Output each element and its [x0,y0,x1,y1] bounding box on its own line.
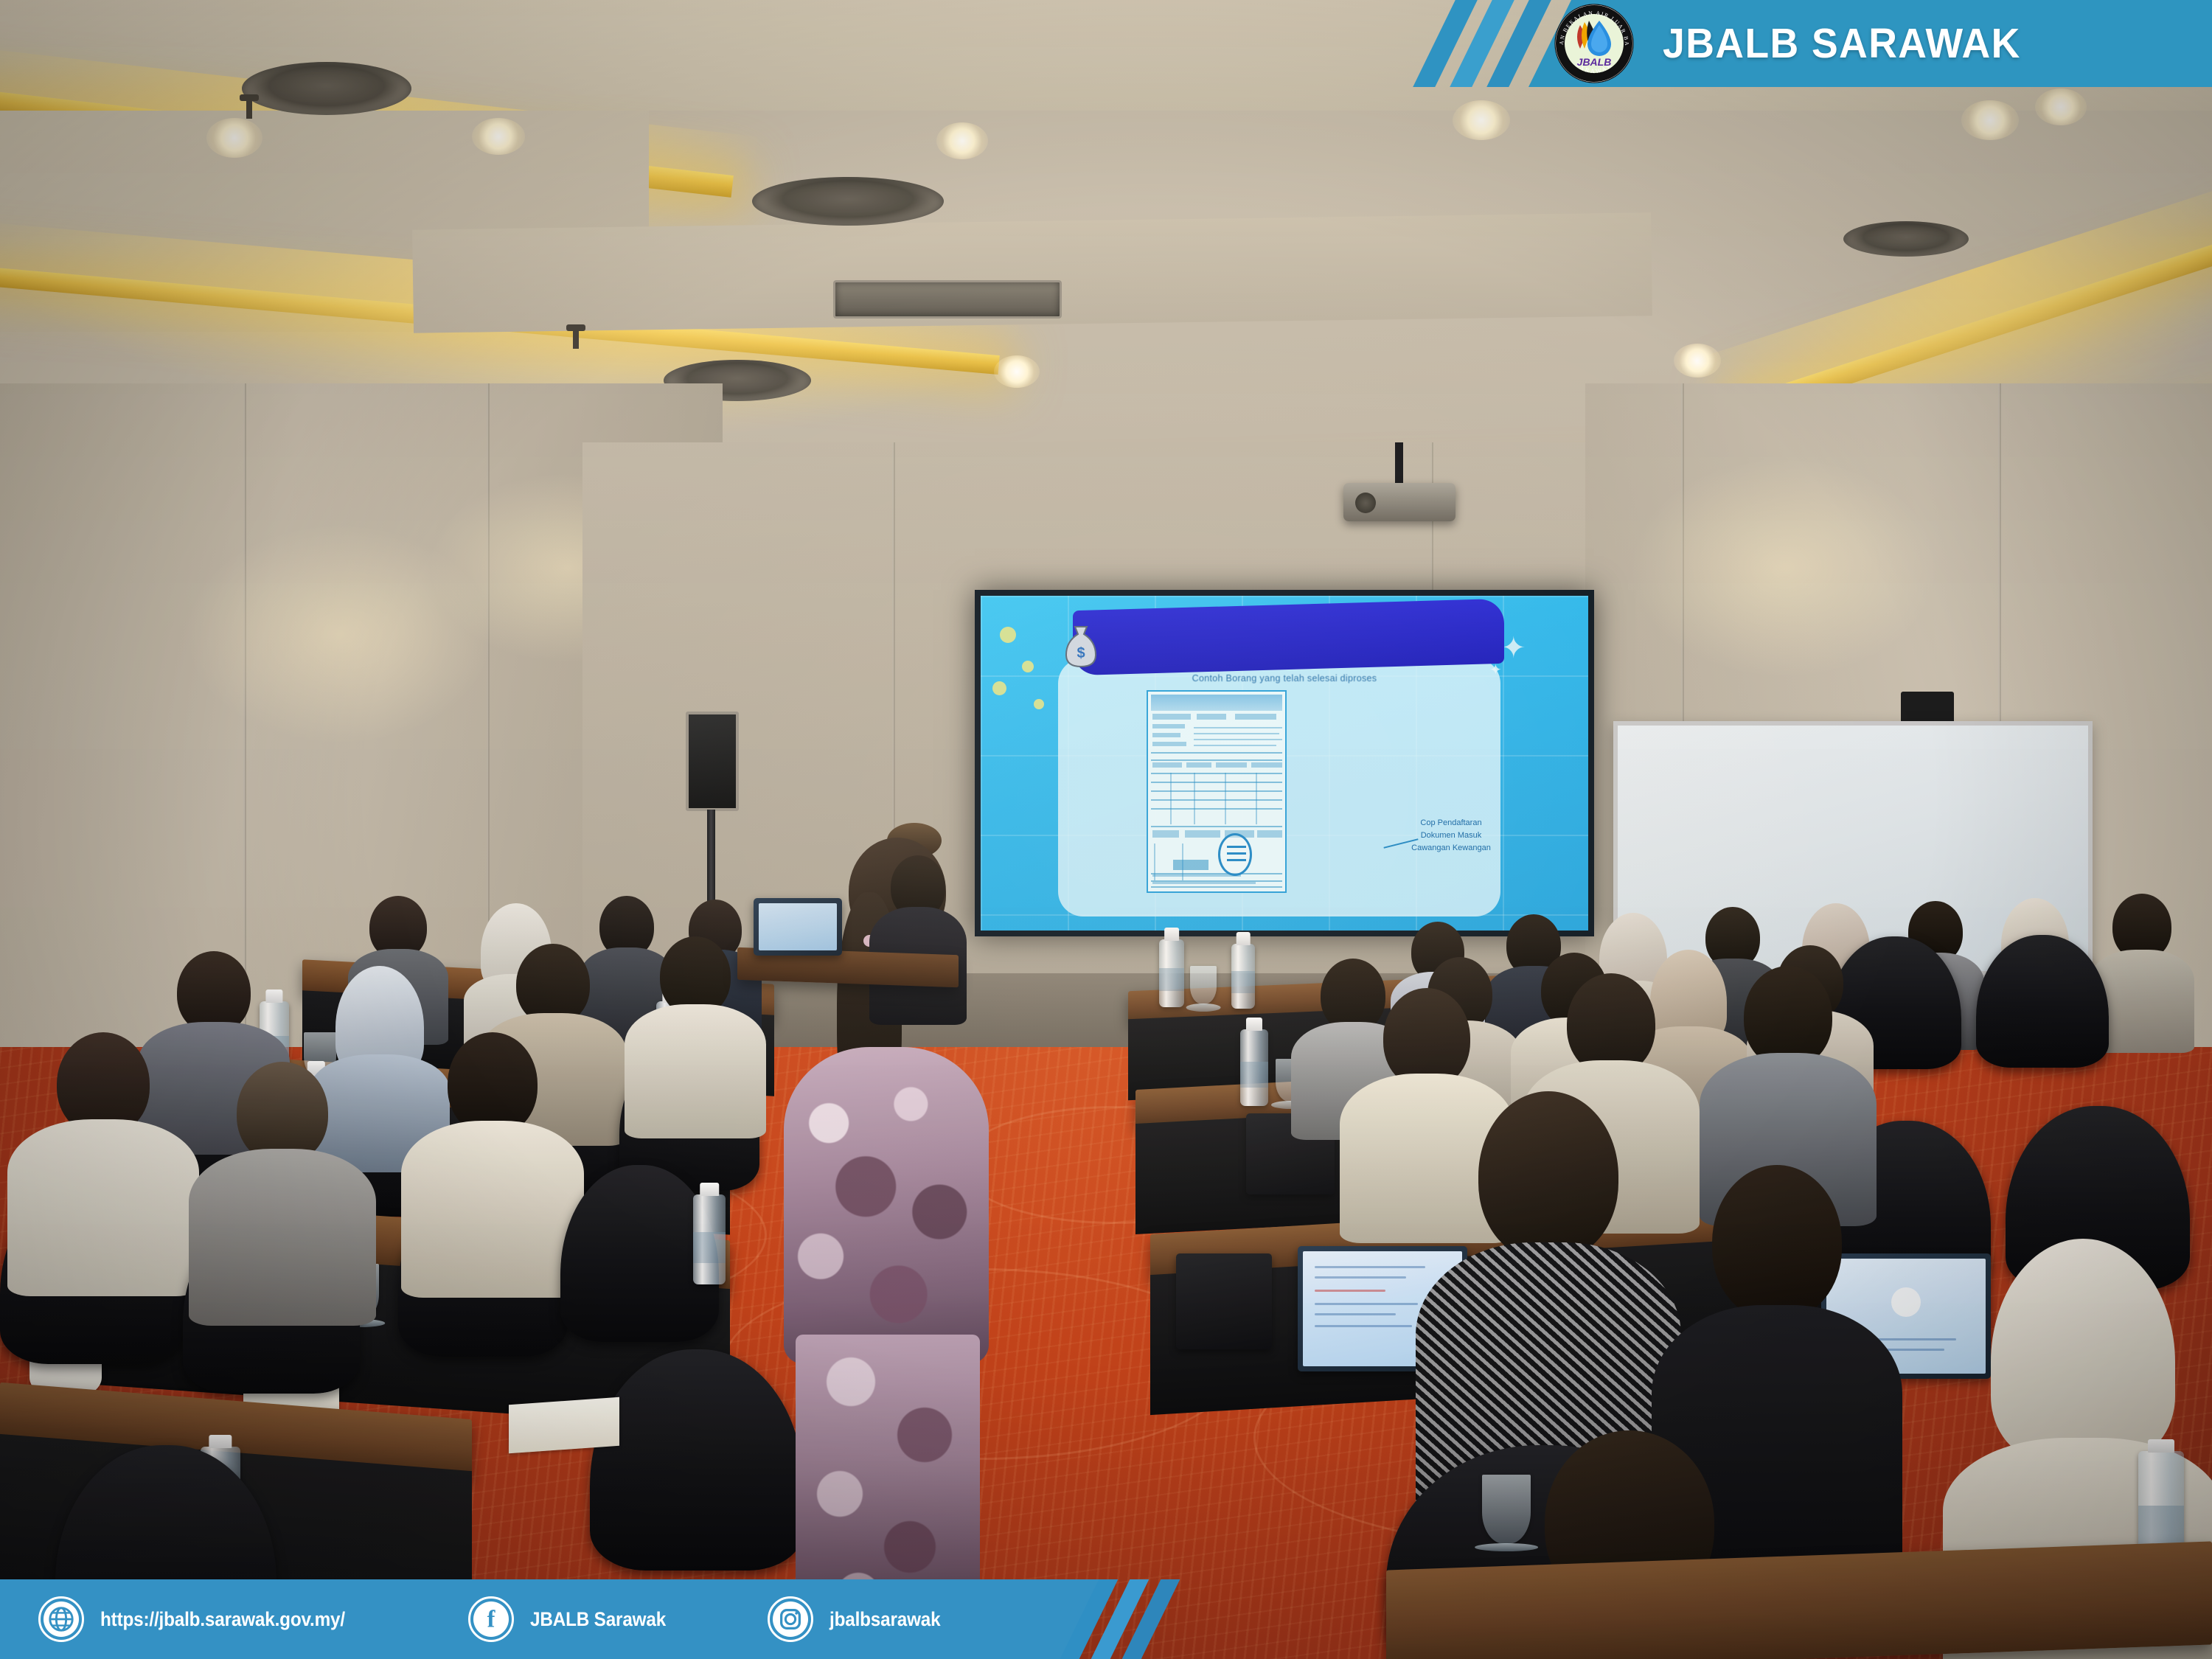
seated-attendee [205,1062,360,1305]
screenshot-root: ✦ ✦ $ Contoh Borang yang telah selesai d… [0,0,2212,1659]
footer-facebook-link[interactable]: f JBALB Sarawak [468,1596,681,1642]
water-bottle [1159,939,1184,1007]
wall-speaker [686,712,739,811]
seated-attendee [417,1032,568,1276]
presenter-laptop [754,898,842,956]
ceiling-air-vent [1843,221,1969,257]
presenter-blouse [784,1047,989,1364]
header-title: JBALB SARAWAK [1663,0,2021,87]
money-bag-icon: $ [1062,624,1100,669]
water-bottle [1231,944,1255,1009]
handbag [1176,1253,1272,1349]
footer-facebook-label: JBALB Sarawak [530,1608,666,1631]
facebook-icon: f [468,1596,514,1642]
slide-heading: Contoh Borang yang telah selesai diprose… [981,673,1588,684]
wall-mounted-box [1901,692,1954,724]
sprinkler-head [240,94,259,121]
svg-text:f: f [487,1605,495,1632]
footer-links: https://jbalb.sarawak.gov.my/ f JBALB Sa… [0,1579,953,1659]
ceiling-downlight [1961,100,2019,140]
jbalb-logo: JABATAN BEKALAN AIR LUAR BANDAR SARAWAK … [1554,3,1635,84]
ceiling-downlight [1674,344,1721,378]
ceiling-downlight [936,122,988,159]
ceiling-downlight [994,355,1040,388]
slide-form-document [1147,690,1287,893]
slide-callout-text: Cop Pendaftaran Dokumen Masuk Cawangan K… [1407,817,1495,855]
ceiling-air-vent [833,280,1062,319]
footer-instagram-label: jbalbsarawak [829,1608,940,1631]
svg-text:JBALB: JBALB [1577,56,1612,68]
projected-slide: ✦ ✦ $ Contoh Borang yang telah selesai d… [981,596,1588,931]
slide-title-bar [1073,599,1504,675]
projector-lens [1355,493,1376,513]
globe-icon [38,1596,84,1642]
svg-text:$: $ [1077,645,1085,661]
front-speaker-at-laptop [870,855,966,1018]
seated-attendee [22,1032,184,1283]
notepad [509,1397,619,1453]
event-photograph: ✦ ✦ $ Contoh Borang yang telah selesai d… [0,0,2212,1659]
instagram-icon [768,1596,813,1642]
drinking-glass [1190,966,1217,1004]
projection-screen: ✦ ✦ $ Contoh Borang yang telah selesai d… [975,590,1594,936]
water-bottle [693,1194,726,1284]
header-banner: JABATAN BEKALAN AIR LUAR BANDAR SARAWAK … [1441,0,2212,87]
ceiling-downlight [1453,100,1510,140]
footer-instagram-link[interactable]: jbalbsarawak [768,1596,953,1642]
ceiling-downlight [2035,88,2087,125]
footer-bar: https://jbalb.sarawak.gov.my/ f JBALB Sa… [0,1579,1194,1659]
drinking-glass [1482,1475,1531,1544]
slide-stamp [1218,833,1252,876]
water-bottle [1240,1029,1268,1106]
ceiling-air-vent [242,62,411,115]
ceiling-downlight [472,118,525,155]
ceiling-air-vent [752,177,944,226]
footer-website-link[interactable]: https://jbalb.sarawak.gov.my/ [38,1596,372,1642]
footer-website-label: https://jbalb.sarawak.gov.my/ [100,1608,345,1631]
ceiling-downlight [206,118,262,158]
projector-mount [1395,442,1403,488]
headscarf [1991,1239,2175,1460]
sprinkler-head [568,324,584,348]
